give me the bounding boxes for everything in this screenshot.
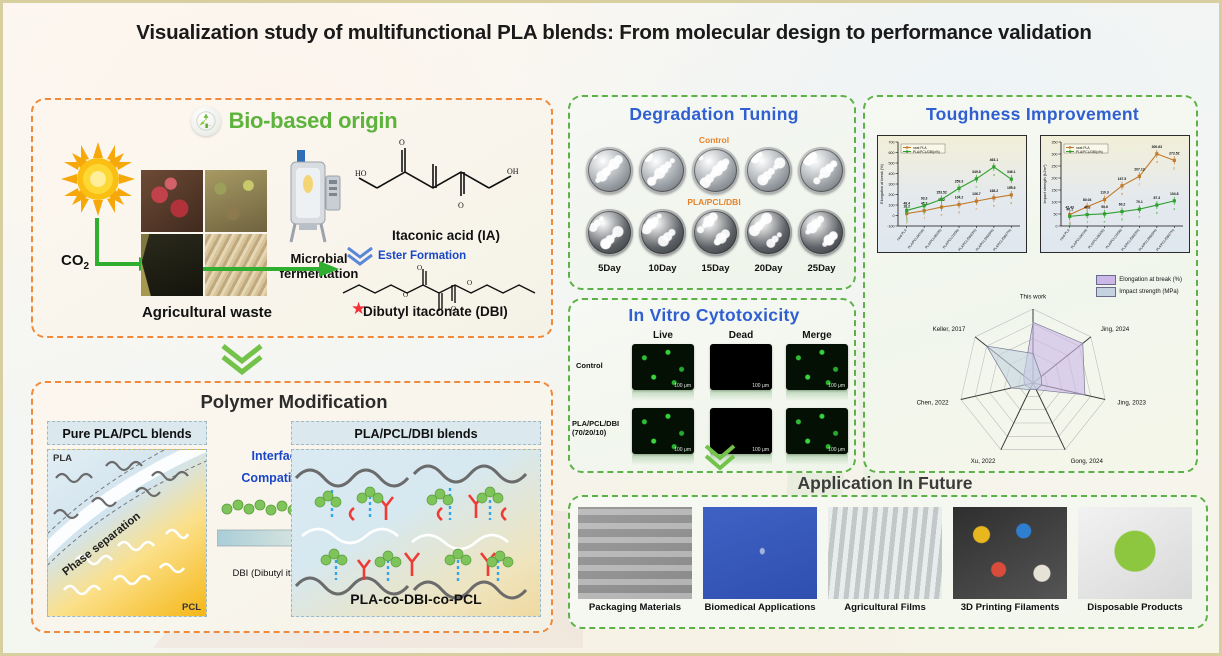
recycle-icon bbox=[191, 106, 221, 136]
svg-text:200: 200 bbox=[889, 193, 895, 197]
svg-text:207.13: 207.13 bbox=[1134, 167, 1144, 171]
application-item: 3D Printing Filaments bbox=[953, 507, 1067, 613]
svg-text:a: a bbox=[1173, 207, 1175, 211]
degradation-tuning-title: Degradation Tuning bbox=[570, 104, 858, 125]
application-item: Disposable Products bbox=[1078, 507, 1192, 613]
petri-dish bbox=[798, 209, 845, 256]
svg-text:f: f bbox=[1087, 221, 1089, 225]
svg-text:a: a bbox=[1156, 160, 1158, 164]
petri-dish bbox=[639, 147, 686, 194]
degradation-day-label: 25Day bbox=[798, 263, 845, 274]
svg-text:b: b bbox=[1010, 185, 1012, 189]
co2-label: CO2 bbox=[61, 252, 89, 272]
svg-text:50: 50 bbox=[1054, 213, 1058, 217]
svg-text:463.1: 463.1 bbox=[990, 158, 999, 162]
svg-text:-100: -100 bbox=[887, 225, 894, 229]
graphical-abstract-root: Visualization study of multifunctional P… bbox=[0, 0, 1222, 656]
svg-text:PLA/PCL/DBI(3%): PLA/PCL/DBI(3%) bbox=[1120, 228, 1140, 252]
svg-text:400: 400 bbox=[889, 172, 895, 176]
svg-text:O: O bbox=[399, 138, 405, 147]
legend-label: Impact strength (MPa) bbox=[1119, 289, 1178, 295]
svg-text:Jing, 2024: Jing, 2024 bbox=[1101, 326, 1130, 333]
svg-text:b: b bbox=[1156, 211, 1158, 215]
svg-text:d: d bbox=[1121, 218, 1123, 222]
cytotoxicity-title: In Vitro Cytotoxicity bbox=[570, 305, 858, 326]
row-header-control: Control bbox=[576, 362, 628, 371]
svg-text:neat PLA: neat PLA bbox=[1059, 228, 1071, 242]
petri-dish bbox=[692, 147, 739, 194]
application-item: Packaging Materials bbox=[578, 507, 692, 613]
svg-text:O: O bbox=[403, 291, 408, 299]
degradation-dish-row-control bbox=[586, 147, 845, 194]
degradation-day-label: 5Day bbox=[586, 263, 633, 274]
petri-dish bbox=[745, 209, 792, 256]
packaging-image bbox=[578, 507, 692, 599]
petri-dish bbox=[639, 209, 686, 256]
svg-text:80.04: 80.04 bbox=[1083, 198, 1092, 202]
scale-bar-label: 100 μm bbox=[752, 383, 769, 389]
legend-swatch bbox=[1096, 275, 1116, 285]
svg-text:700: 700 bbox=[889, 141, 895, 145]
svg-text:b: b bbox=[1173, 166, 1175, 170]
svg-text:a: a bbox=[1010, 201, 1012, 205]
legend-label: Elongation at break (%) bbox=[1119, 277, 1182, 283]
svg-text:104.8: 104.8 bbox=[1170, 192, 1179, 196]
degradation-dish-row-blend bbox=[586, 209, 845, 256]
pure-blend-caption: Pure PLA/PCL blends bbox=[47, 421, 207, 445]
ester-formation-chevron-icon bbox=[345, 246, 375, 266]
svg-text:Elongation at break (%): Elongation at break (%) bbox=[880, 163, 884, 203]
svg-text:Chen, 2022: Chen, 2022 bbox=[917, 399, 950, 406]
scale-bar-label: 100 μm bbox=[752, 447, 769, 453]
bio-based-title: Bio-based origin bbox=[229, 108, 398, 134]
svg-text:273.52: 273.52 bbox=[1169, 151, 1179, 155]
scale-bar-label: 100 μm bbox=[674, 383, 691, 389]
svg-text:neat PLA: neat PLA bbox=[896, 228, 908, 242]
svg-text:Xu, 2022: Xu, 2022 bbox=[971, 458, 996, 465]
svg-text:93.3: 93.3 bbox=[921, 197, 928, 201]
svg-text:110.3: 110.3 bbox=[1100, 191, 1108, 195]
svg-text:c: c bbox=[976, 207, 978, 211]
svg-text:300: 300 bbox=[1052, 153, 1058, 157]
plastic-parts-image bbox=[953, 507, 1067, 599]
petri-dish bbox=[586, 147, 633, 194]
svg-text:c: c bbox=[976, 185, 978, 189]
svg-text:100: 100 bbox=[889, 204, 895, 208]
svg-text:153.52: 153.52 bbox=[936, 190, 946, 194]
svg-text:350: 350 bbox=[1052, 141, 1058, 145]
scale-bar-label: 100 μm bbox=[828, 383, 845, 389]
radar-legend: Elongation at break (%)Impact strength (… bbox=[1096, 275, 1182, 299]
column-header-live: Live bbox=[632, 330, 694, 341]
degradation-tuning-panel: Degradation Tuning Control PLA/PCL/DBI 5… bbox=[568, 95, 856, 290]
reflection bbox=[786, 454, 848, 465]
svg-text:Gong, 2024: Gong, 2024 bbox=[1071, 458, 1104, 465]
svg-text:PLA/PCL(80/20): PLA/PCL(80/20) bbox=[1087, 228, 1105, 249]
svg-text:50.6: 50.6 bbox=[1101, 205, 1108, 209]
application-item: Biomedical Applications bbox=[703, 507, 817, 613]
bio-based-heading: Bio-based origin bbox=[33, 106, 555, 136]
svg-text:70.1: 70.1 bbox=[1136, 200, 1143, 204]
impact-strength-chart: 050100150200250300350neat PLAPLA/PCL(90/… bbox=[1040, 135, 1190, 253]
svg-text:150: 150 bbox=[1052, 189, 1058, 193]
degradation-day-label: 15Day bbox=[692, 263, 739, 274]
page-title: Visualization study of multifunctional P… bbox=[3, 21, 1222, 45]
row-header-blend: PLA/PCL/DBI (70/20/10) bbox=[572, 420, 624, 437]
application-title: Application In Future bbox=[565, 473, 1205, 494]
degradation-day-label: 10Day bbox=[639, 263, 686, 274]
itaconic-acid-label: Itaconic acid (IA) bbox=[341, 228, 551, 243]
grain-photo bbox=[205, 170, 267, 232]
svg-text:60.2: 60.2 bbox=[1119, 203, 1126, 207]
reflection bbox=[786, 390, 848, 401]
svg-text:47.3: 47.3 bbox=[1084, 206, 1091, 210]
svg-text:e: e bbox=[941, 213, 943, 217]
petri-dish bbox=[798, 147, 845, 194]
svg-text:500: 500 bbox=[889, 162, 895, 166]
svg-text:300.63: 300.63 bbox=[1152, 145, 1162, 149]
svg-text:d: d bbox=[958, 211, 960, 215]
svg-text:g: g bbox=[1069, 222, 1071, 226]
svg-text:349.8: 349.8 bbox=[972, 170, 981, 174]
scale-bar-label: 100 μm bbox=[674, 447, 691, 453]
bio-based-origin-panel: Bio-based origin CO2 bbox=[31, 98, 553, 338]
micrograph-blend-live: 100 μm bbox=[632, 408, 694, 454]
corn-stalk-photo bbox=[141, 234, 203, 296]
scale-bar-label: 100 μm bbox=[828, 447, 845, 453]
svg-text:PLA/PCL(70/30): PLA/PCL(70/30) bbox=[1105, 228, 1123, 249]
application-caption: Agricultural Films bbox=[828, 602, 942, 613]
svg-text:PLA/PCL(70/30): PLA/PCL(70/30) bbox=[942, 228, 960, 249]
svg-text:f: f bbox=[924, 217, 926, 221]
column-header-dead: Dead bbox=[710, 330, 772, 341]
degradation-day-label: 20Day bbox=[745, 263, 792, 274]
svg-text:136.7: 136.7 bbox=[972, 192, 981, 196]
svg-text:d: d bbox=[1121, 192, 1123, 196]
svg-text:O: O bbox=[417, 265, 422, 272]
degradation-day-labels: 5Day10Day15Day20Day25Day bbox=[586, 263, 845, 274]
application-item: Agricultural Films bbox=[828, 507, 942, 613]
svg-text:Impact strength (kJ/m²): Impact strength (kJ/m²) bbox=[1043, 164, 1047, 204]
svg-text:HO: HO bbox=[355, 169, 367, 178]
reflection bbox=[710, 390, 772, 401]
sweet-potato-photo bbox=[141, 170, 203, 232]
application-caption: 3D Printing Filaments bbox=[953, 602, 1067, 613]
micrograph-blend-merge: 100 μm bbox=[786, 408, 848, 454]
svg-text:200: 200 bbox=[1052, 177, 1058, 181]
itaconic-acid-structure: O O HO OH bbox=[355, 136, 535, 228]
legend-swatch bbox=[1096, 287, 1116, 297]
svg-text:PLA/PCL/DBI(x%): PLA/PCL/DBI(x%) bbox=[913, 150, 940, 154]
svg-text:This work: This work bbox=[1020, 293, 1047, 300]
svg-text:PLA/PCL(90/10): PLA/PCL(90/10) bbox=[907, 228, 925, 249]
application-flow-chevron-icon bbox=[703, 443, 737, 473]
bio-bag-image bbox=[1078, 507, 1192, 599]
svg-text:PLA/PCL/DBI(5%): PLA/PCL/DBI(5%) bbox=[975, 228, 995, 252]
toughness-improvement-title: Toughness Improvement bbox=[865, 104, 1200, 125]
svg-text:PLA/PCL(90/10): PLA/PCL(90/10) bbox=[1070, 228, 1088, 249]
svg-text:346.1: 346.1 bbox=[1007, 170, 1016, 174]
svg-text:PLA/PCL/DBI(7%): PLA/PCL/DBI(7%) bbox=[1155, 228, 1175, 252]
degradation-blend-label: PLA/PCL/DBI bbox=[570, 197, 858, 207]
svg-text:e: e bbox=[941, 205, 943, 209]
svg-text:c: c bbox=[1139, 182, 1141, 186]
petri-dish bbox=[745, 147, 792, 194]
svg-text:87.3: 87.3 bbox=[1154, 196, 1161, 200]
comparison-radar-chart: This workJing, 2024Jing, 2023Gong, 2024X… bbox=[881, 275, 1186, 471]
micrograph-control-live: 100 μm bbox=[632, 344, 694, 390]
polymer-modification-title: Polymer Modification bbox=[33, 391, 555, 413]
application-panel: Packaging MaterialsBiomedical Applicatio… bbox=[568, 495, 1208, 629]
svg-text:168.2: 168.2 bbox=[990, 189, 999, 193]
flow-chevron-icon bbox=[219, 343, 265, 377]
svg-text:PLA/PCL(80/20): PLA/PCL(80/20) bbox=[924, 228, 942, 249]
agricultural-waste-label: Agricultural waste bbox=[107, 304, 307, 321]
reflection bbox=[632, 390, 694, 401]
svg-text:259.3: 259.3 bbox=[955, 179, 964, 183]
bioreactor-icon bbox=[285, 150, 347, 246]
svg-text:250: 250 bbox=[1052, 165, 1058, 169]
column-header-merge: Merge bbox=[786, 330, 848, 341]
petri-dish bbox=[586, 209, 633, 256]
degradation-control-label: Control bbox=[570, 135, 858, 145]
svg-text:c: c bbox=[1139, 215, 1141, 219]
svg-text:e: e bbox=[1104, 220, 1106, 224]
radar-legend-item: Impact strength (MPa) bbox=[1096, 287, 1182, 297]
dbi-blend-caption: PLA/PCL/DBI blends bbox=[291, 421, 541, 445]
svg-text:g: g bbox=[906, 216, 908, 220]
svg-text:Jing, 2023: Jing, 2023 bbox=[1117, 399, 1146, 406]
svg-text:0: 0 bbox=[1056, 225, 1058, 229]
svg-text:600: 600 bbox=[889, 151, 895, 155]
svg-text:O: O bbox=[458, 201, 464, 210]
dbi-label: Dibutyl itaconate (DBI) bbox=[363, 304, 563, 319]
svg-text:b: b bbox=[993, 204, 995, 208]
application-caption: Disposable Products bbox=[1078, 602, 1192, 613]
polymer-modification-panel: Polymer Modification Pure PLA/PCL blends… bbox=[31, 381, 553, 633]
svg-text:40.1: 40.1 bbox=[1066, 207, 1073, 211]
svg-text:300: 300 bbox=[889, 183, 895, 187]
svg-text:PLA/PCL/DBI(5%): PLA/PCL/DBI(5%) bbox=[1138, 228, 1158, 252]
svg-text:Keller, 2017: Keller, 2017 bbox=[933, 326, 966, 333]
catheter-image bbox=[703, 507, 817, 599]
svg-text:PLA/PCL/DBI(7%): PLA/PCL/DBI(7%) bbox=[992, 228, 1012, 252]
sun-icon bbox=[61, 142, 135, 216]
reflection bbox=[632, 454, 694, 465]
phase-separation-diagram: PLA PCL bbox=[47, 449, 207, 617]
application-caption: Packaging Materials bbox=[578, 602, 692, 613]
svg-text:100: 100 bbox=[1052, 201, 1058, 205]
elongation-chart: -1000100200300400500600700neat PLAPLA/PC… bbox=[877, 135, 1027, 253]
micrograph-control-merge: 100 μm bbox=[786, 344, 848, 390]
micrograph-control-dead: 100 μm bbox=[710, 344, 772, 390]
svg-text:d: d bbox=[958, 194, 960, 198]
mulch-film-image bbox=[828, 507, 942, 599]
petri-dish bbox=[692, 209, 739, 256]
svg-text:PLA/PCL/DBI(x%): PLA/PCL/DBI(x%) bbox=[1076, 150, 1103, 154]
svg-text:0: 0 bbox=[893, 214, 895, 218]
ester-formation-label: Ester Formation bbox=[378, 250, 466, 262]
svg-text:a: a bbox=[993, 173, 995, 177]
application-caption: Biomedical Applications bbox=[703, 602, 817, 613]
svg-text:48.4: 48.4 bbox=[903, 201, 910, 205]
radar-legend-item: Elongation at break (%) bbox=[1096, 275, 1182, 285]
svg-text:167.5: 167.5 bbox=[1118, 177, 1127, 181]
svg-text:PLA/PCL/DBI(3%): PLA/PCL/DBI(3%) bbox=[957, 228, 977, 252]
svg-text:OH: OH bbox=[507, 167, 519, 176]
copolymer-label: PLA-co-DBI-co-PCL bbox=[291, 591, 541, 607]
fermentation-to-product-arrow bbox=[203, 258, 343, 280]
svg-text:O: O bbox=[467, 279, 472, 287]
